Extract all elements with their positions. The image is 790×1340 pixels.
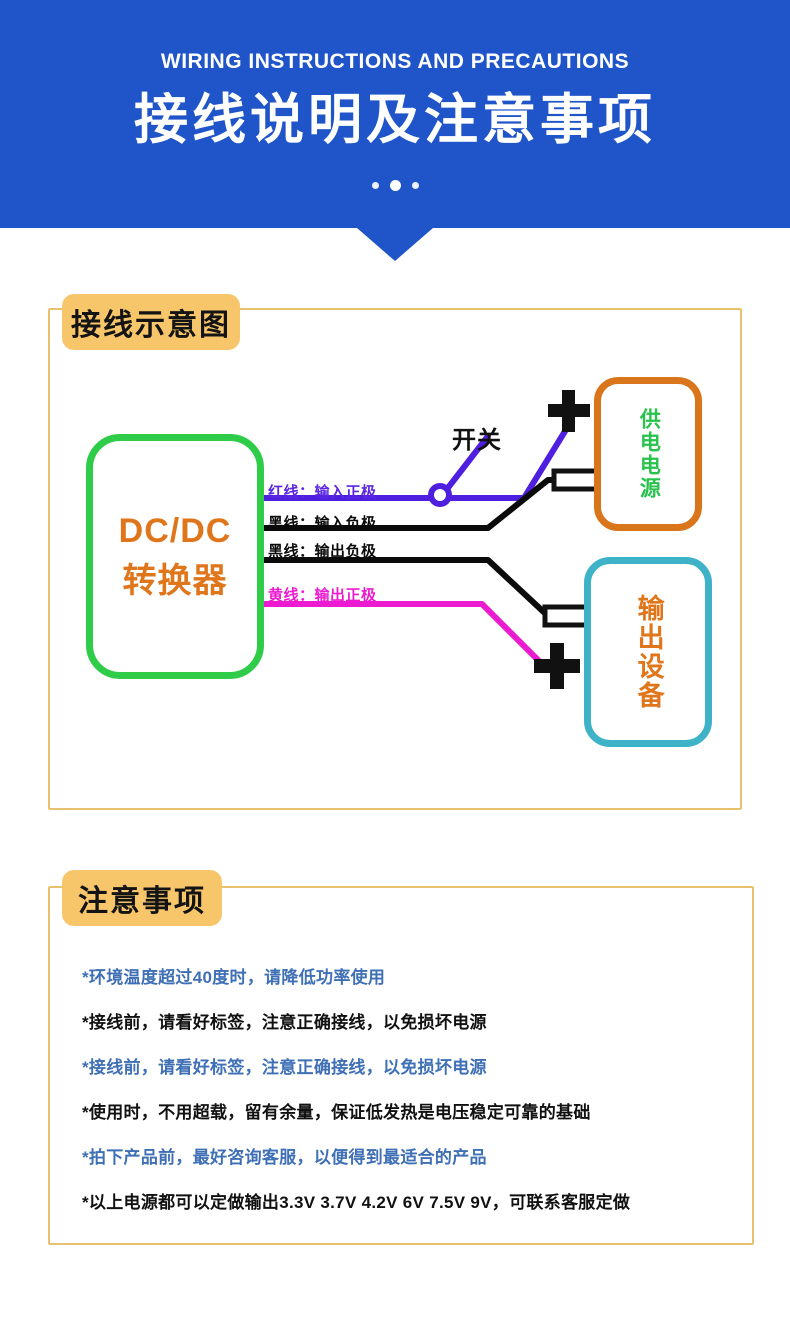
precaution-item: *环境温度超过40度时，请降低功率使用 (82, 963, 385, 988)
dot-small-left (372, 182, 379, 189)
precaution-item: *拍下产品前，最好咨询客服，以便得到最适合的产品 (82, 1143, 487, 1168)
wire-label-input-negative: 黑线：输入负极 (268, 512, 377, 533)
page-header: WIRING INSTRUCTIONS AND PRECAUTIONS 接线说明… (0, 0, 790, 228)
converter-label-line1: DC/DC (119, 512, 232, 551)
dot-small-right (412, 182, 419, 189)
output-device-box: 输出设备 (584, 557, 712, 747)
wire-label-output-positive: 黄线：输出正极 (268, 584, 377, 605)
output-positive-terminal-icon (534, 643, 580, 689)
switch-pivot-icon (431, 486, 449, 504)
page-title: 接线说明及注意事项 (0, 88, 790, 152)
converter-label-line2: 转换器 (123, 553, 228, 602)
header-subtitle: WIRING INSTRUCTIONS AND PRECAUTIONS (0, 50, 790, 74)
dcdc-converter-box: DC/DC 转换器 (86, 434, 264, 679)
power-supply-label: 供电电源 (637, 408, 660, 500)
power-supply-box: 供电电源 (594, 377, 702, 531)
wire-label-output-negative: 黑线：输出负极 (268, 540, 377, 561)
precaution-item: *以上电源都可以定做输出3.3V 3.7V 4.2V 6V 7.5V 9V，可联… (82, 1188, 630, 1213)
wire-path-output-positive (264, 604, 544, 666)
switch-label: 开关 (452, 420, 502, 455)
precaution-item: *接线前，请看好标签，注意正确接线，以免损坏电源 (82, 1008, 487, 1033)
wiring-diagram-badge: 接线示意图 (62, 294, 240, 350)
wire-label-input-positive: 红线：输入正极 (268, 481, 377, 502)
precaution-item: *接线前，请看好标签，注意正确接线，以免损坏电源 (82, 1053, 487, 1078)
output-device-label: 输出设备 (633, 594, 662, 710)
precaution-item: *使用时，不用超载，留有余量，保证低发热是电压稳定可靠的基础 (82, 1098, 591, 1123)
header-arrow-icon (357, 228, 433, 261)
header-dots-ornament (0, 180, 790, 191)
dot-large-center (390, 180, 401, 191)
supply-positive-terminal-icon (548, 390, 590, 432)
precautions-badge: 注意事项 (62, 870, 222, 926)
